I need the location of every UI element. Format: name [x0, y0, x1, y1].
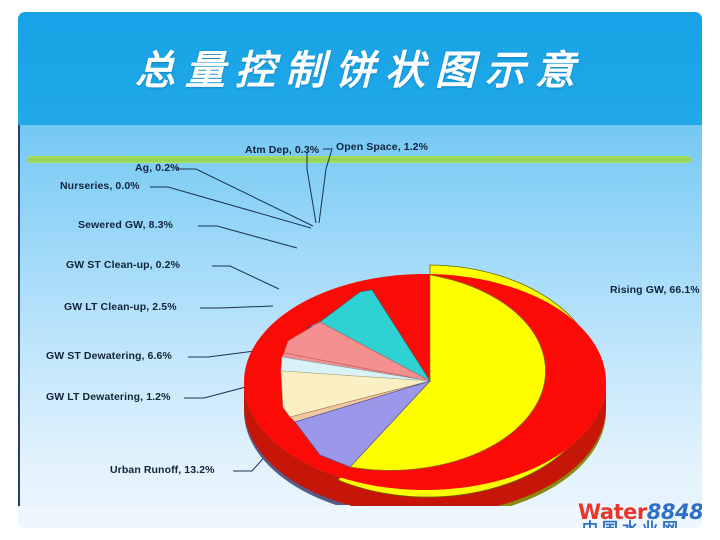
pie-label-ag: Ag, 0.2% [135, 163, 180, 174]
chart-plot-area: Atm Dep, 0.3% Open Space, 1.2% Ag, 0.2% … [18, 125, 702, 506]
pie-label-gw-lt-dewatering: GW LT Dewatering, 1.2% [46, 392, 171, 403]
pie-label-urban-runoff: Urban Runoff, 13.2% [110, 465, 215, 476]
pie-label-sewered-gw: Sewered GW, 8.3% [78, 220, 173, 231]
pie-label-open-space: Open Space, 1.2% [336, 142, 428, 153]
presentation-slide: 总量控制饼状图示意 [18, 12, 702, 528]
pie-label-rising-gw: Rising GW, 66.1% [610, 285, 700, 296]
pie-label-gw-st-cleanup: GW ST Clean-up, 0.2% [66, 260, 180, 271]
pie-label-gw-st-dewatering: GW ST Dewatering, 6.6% [46, 351, 172, 362]
watermark-chinese: 中国水业网 [582, 520, 682, 528]
site-watermark: Water8848.com 中国水业网 [578, 498, 702, 528]
pie-label-gw-lt-cleanup: GW LT Clean-up, 2.5% [64, 302, 177, 313]
page-title: 总量控制饼状图示意 [18, 38, 702, 96]
pie-label-atm-dep: Atm Dep, 0.3% [245, 145, 319, 156]
slide-header-band: 总量控制饼状图示意 [18, 12, 702, 125]
pie-label-nurseries: Nurseries, 0.0% [60, 181, 140, 192]
